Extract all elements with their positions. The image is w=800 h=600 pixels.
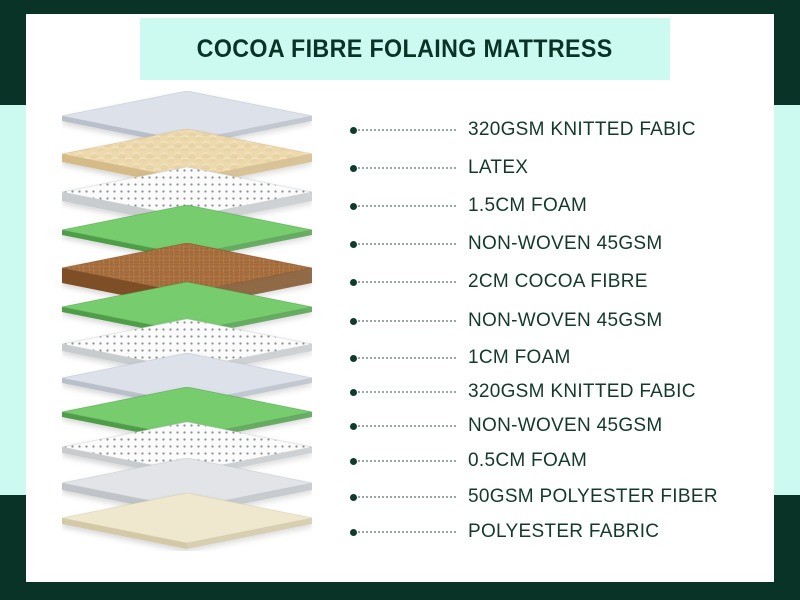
bullet-dot-icon [350, 165, 357, 172]
layer-label: 320GSM KNITTED FABIC [468, 381, 696, 403]
right-accent-stripe [774, 105, 800, 495]
bullet-dot-icon [350, 127, 357, 134]
layer-callout: NON-WOVEN 45GSM [350, 415, 663, 437]
layer-slab-polyester-fabric [62, 493, 312, 556]
leader-line [358, 531, 456, 533]
bullet-dot-icon [350, 423, 357, 430]
layer-label: 1.5CM FOAM [468, 195, 587, 217]
bullet-dot-icon [350, 241, 357, 248]
layer-label: NON-WOVEN 45GSM [468, 415, 663, 437]
leader-line [358, 167, 456, 169]
bullet-dot-icon [350, 389, 357, 396]
layer-label: 50GSM POLYESTER FIBER [468, 486, 718, 508]
left-accent-stripe [0, 105, 26, 495]
bullet-dot-icon [350, 355, 357, 362]
layer-callout: 320GSM KNITTED FABIC [350, 119, 696, 141]
layer-callout: POLYESTER FABRIC [350, 521, 659, 543]
leader-line [358, 496, 456, 498]
bullet-dot-icon [350, 529, 357, 536]
layer-label: 2CM COCOA FIBRE [468, 271, 648, 293]
layer-label: NON-WOVEN 45GSM [468, 233, 663, 255]
layer-label: LATEX [468, 157, 528, 179]
layer-callout: LATEX [350, 157, 528, 179]
layer-callout: NON-WOVEN 45GSM [350, 310, 663, 332]
leader-line [358, 320, 456, 322]
layer-label: POLYESTER FABRIC [468, 521, 659, 543]
leader-line [358, 129, 456, 131]
layer-callout: 1.5CM FOAM [350, 195, 587, 217]
leader-line [358, 243, 456, 245]
layer-callout: 1CM FOAM [350, 347, 571, 369]
leader-line [358, 460, 456, 462]
layer-label: 0.5CM FOAM [468, 450, 587, 472]
infographic-canvas: COCOA FIBRE FOLAING MATTRESS 320GSM KNIT… [26, 14, 774, 582]
layer-callout: 0.5CM FOAM [350, 450, 587, 472]
leader-line [358, 391, 456, 393]
layer-callout: 50GSM POLYESTER FIBER [350, 486, 718, 508]
bullet-dot-icon [350, 458, 357, 465]
layer-label: 320GSM KNITTED FABIC [468, 119, 696, 141]
leader-line [358, 425, 456, 427]
bullet-dot-icon [350, 203, 357, 210]
layer-callout: NON-WOVEN 45GSM [350, 233, 663, 255]
bullet-dot-icon [350, 279, 357, 286]
layer-label: 1CM FOAM [468, 347, 571, 369]
mattress-layer-diagram: 320GSM KNITTED FABIC [26, 14, 774, 582]
layer-callout: 2CM COCOA FIBRE [350, 271, 648, 293]
bullet-dot-icon [350, 494, 357, 501]
layer-label: NON-WOVEN 45GSM [468, 310, 663, 332]
leader-line [358, 357, 456, 359]
bullet-dot-icon [350, 318, 357, 325]
leader-line [358, 205, 456, 207]
leader-line [358, 281, 456, 283]
layer-callout: 320GSM KNITTED FABIC [350, 381, 696, 403]
